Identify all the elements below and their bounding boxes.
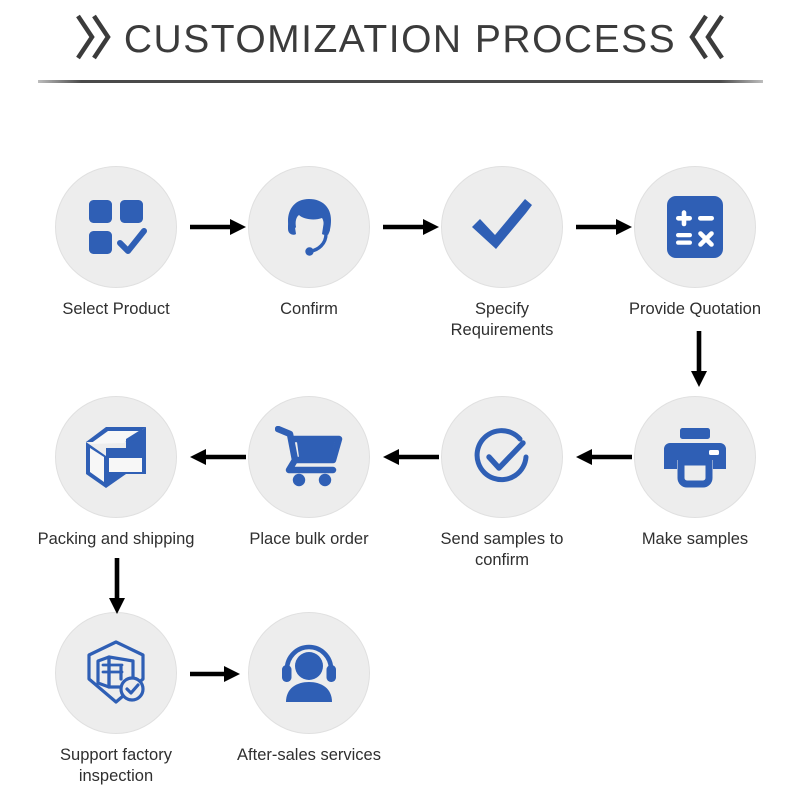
step-packing-and-shipping[interactable]: Packing and shipping	[36, 396, 196, 550]
step-label: Select Product	[36, 299, 196, 320]
step-label: Confirm	[229, 299, 389, 320]
step-confirm[interactable]: Confirm	[229, 166, 389, 320]
step-icon-circle	[441, 396, 563, 518]
step-icon-circle	[248, 612, 370, 734]
title-block: CUSTOMIZATION PROCESS	[0, 8, 800, 83]
connector-packing-to-inspection	[104, 558, 130, 614]
step-label: Send samples to confirm	[422, 529, 582, 571]
customization-process-infographic: CUSTOMIZATION PROCESS Select Product	[0, 0, 800, 800]
step-label: Provide Quotation	[615, 299, 775, 320]
page-title: CUSTOMIZATION PROCESS	[124, 20, 676, 59]
step-icon-circle	[55, 612, 177, 734]
step-place-bulk-order[interactable]: Place bulk order	[229, 396, 389, 550]
step-make-samples[interactable]: Make samples	[615, 396, 775, 550]
connector-select-to-confirm	[190, 215, 246, 239]
person-headset-icon	[276, 642, 342, 704]
step-support-factory-inspection[interactable]: Support factory inspection	[36, 612, 196, 787]
connector-specify-to-quotation	[576, 215, 632, 239]
step-label: Make samples	[615, 529, 775, 550]
shield-inspect-icon	[81, 639, 151, 707]
connector-quotation-to-make-samples	[686, 331, 712, 387]
double-chevron-right-icon	[72, 11, 118, 68]
step-icon-circle	[248, 166, 370, 288]
step-label: Packing and shipping	[36, 529, 196, 550]
step-send-samples-to-confirm[interactable]: Send samples to confirm	[422, 396, 582, 571]
circle-check-icon	[468, 423, 536, 491]
step-select-product[interactable]: Select Product	[36, 166, 196, 320]
step-icon-circle	[55, 166, 177, 288]
step-label: Support factory inspection	[36, 745, 196, 787]
step-label: Place bulk order	[229, 529, 389, 550]
step-icon-circle	[55, 396, 177, 518]
package-box-icon	[82, 424, 150, 490]
step-icon-circle	[634, 396, 756, 518]
step-after-sales-services[interactable]: After-sales services	[229, 612, 389, 766]
step-provide-quotation[interactable]: Provide Quotation	[615, 166, 775, 320]
calculator-icon	[665, 194, 725, 260]
double-chevron-left-icon	[682, 11, 728, 68]
title-divider	[38, 80, 763, 83]
agent-headset-icon	[276, 194, 342, 260]
connector-confirm-to-specify	[383, 215, 439, 239]
connector-send-to-bulk-order	[383, 445, 439, 469]
grid-check-icon	[84, 195, 148, 259]
connector-inspection-to-after-sales	[190, 662, 240, 686]
step-icon-circle	[634, 166, 756, 288]
step-specify-requirements[interactable]: Specify Requirements	[422, 166, 582, 341]
step-label: Specify Requirements	[422, 299, 582, 341]
connector-bulk-order-to-packing	[190, 445, 246, 469]
printer-icon	[662, 426, 728, 488]
connector-make-samples-to-send	[576, 445, 632, 469]
checkmark-icon	[469, 197, 535, 257]
shopping-cart-icon	[275, 426, 343, 488]
step-icon-circle	[248, 396, 370, 518]
step-icon-circle	[441, 166, 563, 288]
step-label: After-sales services	[229, 745, 389, 766]
